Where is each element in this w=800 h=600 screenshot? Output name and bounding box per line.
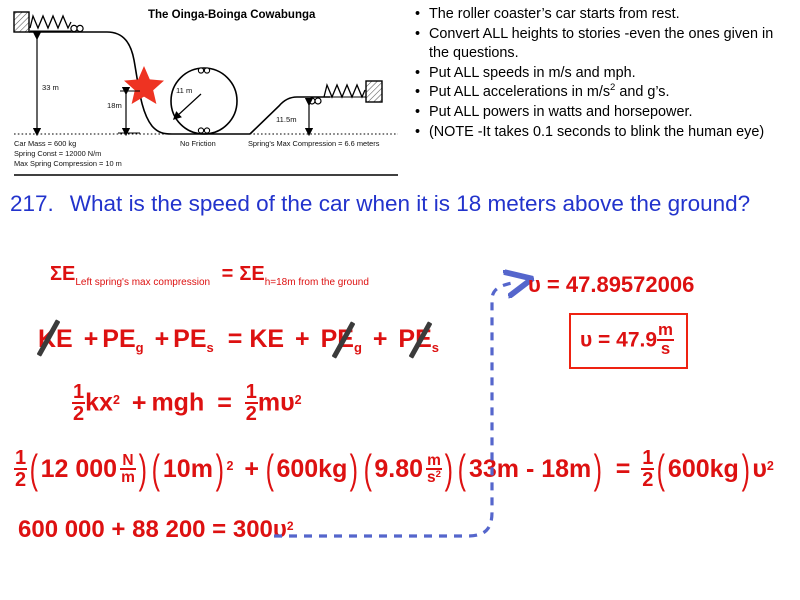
height-18m-label: 18m bbox=[107, 101, 122, 110]
loop-bottom-car-wheel-1 bbox=[198, 128, 203, 133]
frac-denominator: m bbox=[120, 468, 136, 486]
eq3-kx-exponent: 2 bbox=[113, 393, 120, 407]
star-marker bbox=[124, 66, 164, 104]
note-right-spring: Spring's Max Compression = 6.6 meters bbox=[248, 139, 380, 148]
list-item: • Convert ALL heights to stories -even t… bbox=[414, 25, 796, 64]
paren-close-3: ) bbox=[350, 446, 358, 493]
right-spring bbox=[324, 85, 365, 97]
frac-denominator: 2 bbox=[14, 468, 27, 490]
fraction-meters-per-second: m s bbox=[657, 322, 674, 358]
fraction-one-half-b: 1 2 bbox=[245, 382, 258, 424]
eq2-pes-right-subscript: s bbox=[432, 340, 439, 355]
fraction-newtons-per-meter: N m bbox=[120, 453, 136, 486]
eq3-plus: + bbox=[132, 389, 147, 417]
eq2-plus-3: + bbox=[295, 325, 310, 353]
fraction-meters-per-second-squared: m s2 bbox=[426, 453, 442, 486]
eq2-pes-left-subscript: s bbox=[207, 340, 214, 355]
den-exponent: 2 bbox=[436, 469, 441, 480]
eq5-exponent: 2 bbox=[287, 519, 294, 533]
frac-numerator: N bbox=[120, 453, 136, 469]
frac-denominator: 2 bbox=[641, 468, 654, 490]
eq2-plus-4: + bbox=[373, 325, 388, 353]
eq3-kx: kx bbox=[85, 389, 113, 417]
loop bbox=[171, 68, 237, 134]
bullet-icon: • bbox=[415, 64, 420, 84]
bullet-icon: • bbox=[415, 83, 420, 103]
fraction-one-half-a: 1 2 bbox=[72, 382, 85, 424]
paren-close-6: ) bbox=[741, 446, 749, 493]
note-spring-const: Spring Const = 12000 N/m bbox=[14, 149, 101, 158]
eq3-mgh: mgh bbox=[151, 389, 204, 417]
height-11_5m-label: 11.5m bbox=[276, 115, 297, 124]
equation-energy-terms: KE +PEg +PEs =KE + PEg + PEs bbox=[38, 325, 439, 354]
eq4-height-difference: 33m - 18m bbox=[469, 455, 591, 483]
fraction-one-half-c: 1 2 bbox=[14, 448, 27, 490]
equation-arithmetic-result: 600 000 + 88 200 = 300υ2 bbox=[18, 516, 294, 544]
paren-close-1: ) bbox=[138, 446, 146, 493]
list-item-label-tail: and g’s. bbox=[615, 84, 669, 100]
frac-denominator: 2 bbox=[245, 402, 258, 424]
instructions-list: • The roller coaster’s car starts from r… bbox=[414, 5, 796, 142]
frac-numerator: m bbox=[426, 453, 442, 469]
loop-diameter-label: 11 m bbox=[176, 86, 192, 95]
roller-coaster-diagram: 11 m 33 m 18m 11.5m The Oinga-Boinga Cow… bbox=[0, 0, 408, 178]
fraction-one-half-d: 1 2 bbox=[641, 448, 654, 490]
eq2-term-ke-right: KE bbox=[249, 325, 284, 353]
frac-numerator: 1 bbox=[14, 448, 27, 468]
den-base: s bbox=[427, 469, 436, 486]
diagram-svg: 11 m 33 m 18m 11.5m The Oinga-Boinga Cow… bbox=[0, 0, 408, 178]
paren-close-4: ) bbox=[445, 446, 453, 493]
list-item: • (NOTE -It takes 0.1 seconds to blink t… bbox=[414, 123, 796, 143]
car-right-wheel-2 bbox=[315, 98, 321, 104]
list-item-label: Convert ALL heights to stories -even the… bbox=[429, 26, 773, 62]
eq4-equals: = bbox=[616, 455, 631, 483]
solution-work-area: ΣELeft spring's max compression =ΣEh=18m… bbox=[0, 255, 800, 600]
eq3-mv: mυ bbox=[258, 389, 295, 417]
bullet-icon: • bbox=[415, 103, 420, 123]
answer-value: υ = 47.9 bbox=[580, 328, 657, 351]
note-car-mass: Car Mass = 600 kg bbox=[14, 139, 76, 148]
eq4-velocity-exponent: 2 bbox=[767, 459, 774, 473]
eq1-rhs-subscript: h=18m from the ground bbox=[265, 277, 369, 288]
paren-open-3: ( bbox=[266, 446, 274, 493]
eq2-term-pes-left: PE bbox=[173, 325, 206, 353]
list-item: • Put ALL speeds in m/s and mph. bbox=[414, 64, 796, 84]
frac-numerator: m bbox=[657, 322, 674, 339]
paren-open-4: ( bbox=[363, 446, 371, 493]
eq4-k-value: 12 000 bbox=[41, 455, 117, 483]
eq2-peg-left-subscript: g bbox=[136, 340, 144, 355]
frac-numerator: 1 bbox=[72, 382, 85, 402]
height-33m-label: 33 m bbox=[42, 83, 59, 92]
loop-bottom-car-wheel-2 bbox=[204, 128, 209, 133]
equation-symbolic-form: 1 2 kx2 +mgh = 1 2 mυ2 bbox=[72, 383, 302, 425]
eq1-rhs-main: ΣE bbox=[239, 263, 264, 285]
bullet-icon: • bbox=[415, 5, 420, 25]
car-right-wheel-1 bbox=[309, 98, 315, 104]
frac-numerator: 1 bbox=[641, 448, 654, 468]
frac-denominator: 2 bbox=[72, 402, 85, 424]
list-item-label: Put ALL accelerations in m/s bbox=[429, 84, 610, 100]
eq2-plus-2: + bbox=[155, 325, 170, 353]
eq2-plus-1: + bbox=[84, 325, 99, 353]
car-left-wheel-2 bbox=[77, 25, 83, 31]
eq2-equals: = bbox=[228, 325, 243, 353]
eq1-lhs-subscript: Left spring's max compression bbox=[75, 277, 210, 288]
right-wall-block bbox=[366, 81, 382, 102]
frac-denominator: s2 bbox=[426, 468, 442, 486]
question-text: 217.What is the speed of the car when it… bbox=[10, 190, 785, 217]
loop-diameter-arrow bbox=[176, 94, 201, 117]
list-item-label: (NOTE -It takes 0.1 seconds to blink the… bbox=[429, 124, 764, 140]
answer-box: υ = 47.9 m s bbox=[569, 313, 688, 369]
eq4-mass: 600kg bbox=[276, 455, 347, 483]
eq4-x-value: 10m bbox=[163, 455, 213, 483]
list-item-label: The roller coaster’s car starts from res… bbox=[429, 6, 680, 22]
eq2-peg-right-subscript: g bbox=[354, 340, 362, 355]
eq4-g-value: 9.80 bbox=[374, 455, 423, 483]
car-left-wheel-1 bbox=[71, 25, 77, 31]
left-spring bbox=[30, 16, 71, 28]
list-item: • Put ALL accelerations in m/s2 and g’s. bbox=[414, 83, 796, 103]
list-item-label: Put ALL powers in watts and horsepower. bbox=[429, 104, 692, 120]
list-item: • Put ALL powers in watts and horsepower… bbox=[414, 103, 796, 123]
paren-open-1: ( bbox=[30, 446, 38, 493]
paren-open-6: ( bbox=[657, 446, 665, 493]
question-number: 217. bbox=[10, 191, 54, 216]
paren-close-2: ) bbox=[216, 446, 224, 493]
paren-open-5: ( bbox=[458, 446, 466, 493]
eq5-text: 600 000 + 88 200 = 300υ bbox=[18, 516, 287, 543]
answer-box-content: υ = 47.9 m s bbox=[580, 323, 674, 359]
eq1-equals: = bbox=[222, 263, 234, 285]
equation-energy-conservation: ΣELeft spring's max compression =ΣEh=18m… bbox=[50, 263, 369, 286]
note-no-friction: No Friction bbox=[180, 139, 216, 148]
question-body: What is the speed of the car when it is … bbox=[70, 191, 750, 216]
list-item-label: Put ALL speeds in m/s and mph. bbox=[429, 65, 636, 81]
equation-numeric-substitution: 1 2 (12 000 N m )(10m)2 +(600kg)(9.80 m … bbox=[14, 447, 774, 494]
eq4-plus: + bbox=[244, 455, 259, 483]
diagram-title: The Oinga-Boinga Cowabunga bbox=[148, 9, 316, 21]
eq4-x-exponent: 2 bbox=[226, 459, 233, 473]
note-max-compression: Max Spring Compression = 10 m bbox=[14, 159, 122, 168]
frac-denominator: s bbox=[657, 339, 674, 358]
paren-open-2: ( bbox=[152, 446, 160, 493]
loop-top-car-wheel-1 bbox=[198, 68, 203, 73]
eq4-velocity: υ bbox=[752, 455, 767, 483]
eq2-term-peg-left: PE bbox=[102, 325, 135, 353]
answer-unrounded-text: υ = 47.89572006 bbox=[528, 272, 694, 297]
frac-numerator: 1 bbox=[245, 382, 258, 402]
bullet-icon: • bbox=[415, 25, 420, 45]
answer-unrounded: υ = 47.89572006 bbox=[528, 272, 694, 298]
eq3-equals: = bbox=[217, 389, 232, 417]
loop-top-car-wheel-2 bbox=[204, 68, 209, 73]
eq1-lhs-main: ΣE bbox=[50, 263, 75, 285]
eq4-mass-2: 600kg bbox=[668, 455, 739, 483]
left-wall-block bbox=[14, 12, 29, 32]
list-item: • The roller coaster’s car starts from r… bbox=[414, 5, 796, 25]
bullet-icon: • bbox=[415, 123, 420, 143]
paren-close-5: ) bbox=[594, 446, 602, 493]
eq3-mv-exponent: 2 bbox=[295, 393, 302, 407]
